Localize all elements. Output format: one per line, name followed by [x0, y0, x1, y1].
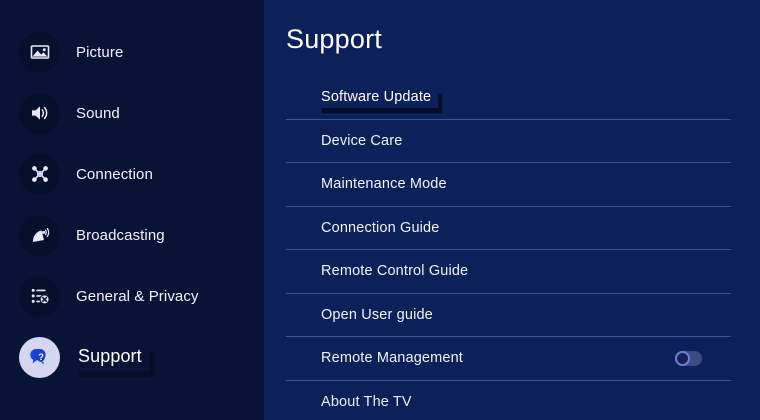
picture-icon [19, 32, 60, 73]
connection-icon [19, 154, 60, 195]
menu-item-label: Remote Control Guide [321, 263, 468, 279]
svg-text:?: ? [38, 351, 44, 362]
sidebar-item-sound[interactable]: Sound [0, 91, 264, 135]
tv-settings-screen: Picture Sound [0, 0, 760, 420]
help-bubble-icon: ? [19, 337, 60, 378]
sidebar-item-label: Support [72, 343, 150, 371]
sidebar-item-label: Broadcasting [76, 227, 165, 244]
sound-icon [19, 93, 60, 134]
remote-management-toggle[interactable] [675, 351, 702, 366]
menu-item-label: Software Update [316, 87, 438, 108]
sidebar-item-label: Connection [76, 166, 153, 183]
sidebar-item-general-privacy[interactable]: General & Privacy [0, 274, 264, 318]
menu-item-device-care[interactable]: Device Care [286, 120, 731, 164]
sidebar-item-label: Picture [76, 44, 123, 61]
sidebar-item-picture[interactable]: Picture [0, 30, 264, 74]
menu-item-label: Maintenance Mode [321, 176, 447, 192]
sidebar-item-label: Sound [76, 105, 120, 122]
menu-item-software-update[interactable]: Software Update [286, 76, 731, 120]
menu-item-remote-management[interactable]: Remote Management [286, 337, 731, 381]
sidebar-item-connection[interactable]: Connection [0, 152, 264, 196]
menu-item-label: Open User guide [321, 307, 433, 323]
content-panel: Support Software Update Device Care Main… [264, 0, 760, 420]
menu-item-connection-guide[interactable]: Connection Guide [286, 207, 731, 251]
sidebar-item-broadcasting[interactable]: Broadcasting [0, 213, 264, 257]
sidebar-item-support[interactable]: ? Support [0, 335, 264, 379]
menu-item-label: About The TV [321, 394, 412, 410]
toggle-knob [675, 351, 690, 366]
menu-item-label: Remote Management [321, 350, 463, 366]
broadcast-icon [19, 215, 60, 256]
page-title: Support [286, 24, 382, 55]
menu-item-open-user-guide[interactable]: Open User guide [286, 294, 731, 338]
menu-item-about-the-tv[interactable]: About The TV [286, 381, 731, 420]
support-menu-list: Software Update Device Care Maintenance … [264, 76, 760, 420]
settings-list-icon [19, 276, 60, 317]
menu-item-label: Device Care [321, 133, 402, 149]
sidebar-item-label: General & Privacy [76, 288, 199, 305]
menu-item-label: Connection Guide [321, 220, 439, 236]
menu-item-remote-control-guide[interactable]: Remote Control Guide [286, 250, 731, 294]
menu-item-maintenance-mode[interactable]: Maintenance Mode [286, 163, 731, 207]
sidebar: Picture Sound [0, 0, 264, 420]
